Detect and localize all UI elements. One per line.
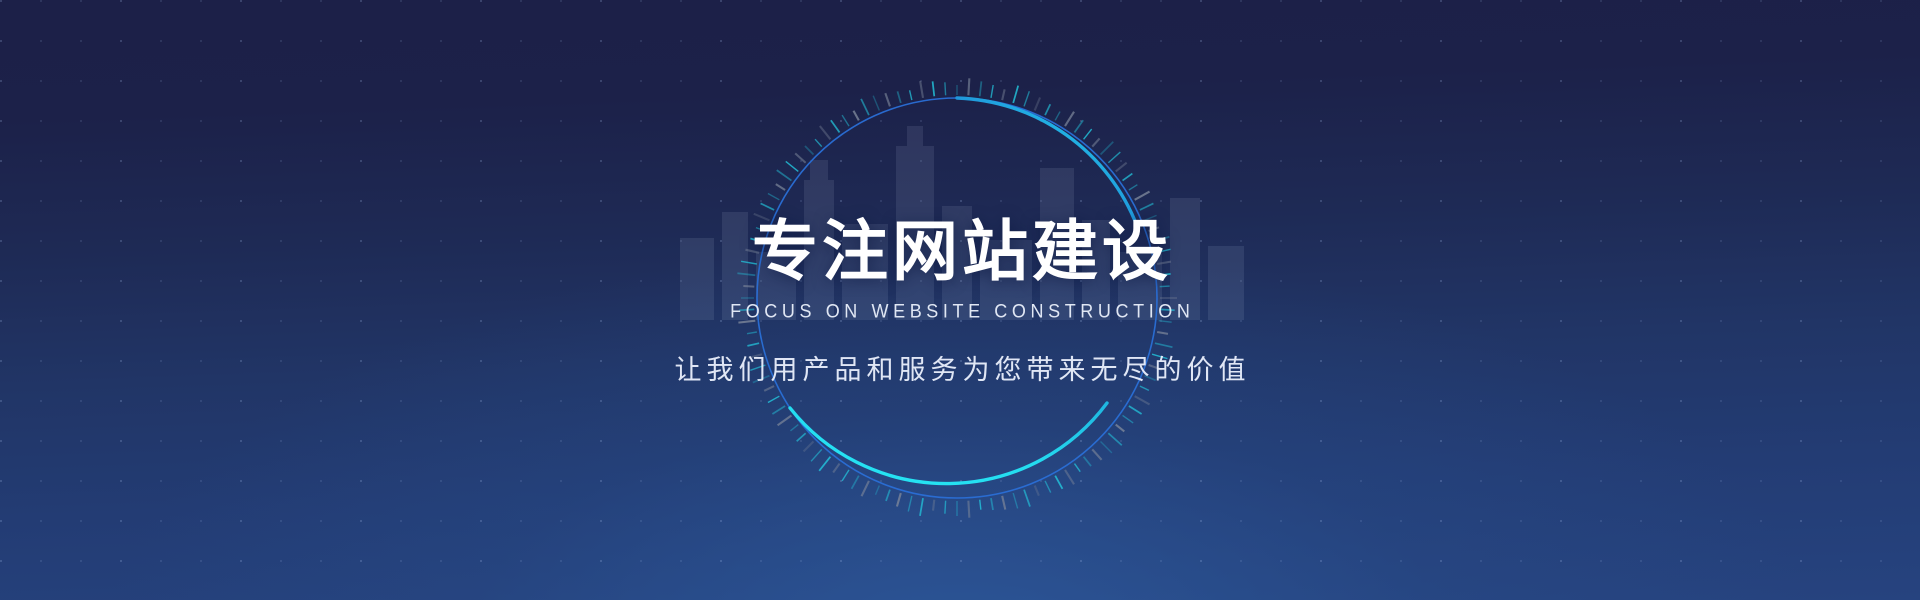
page-title: 专注网站建设 [748, 217, 1172, 286]
tagline-chinese: 让我们用产品和服务为您带来无尽的价值 [670, 348, 1251, 387]
hero-content: 专注网站建设 FOCUS ON WEBSITE CONSTRUCTION 让我们… [0, 0, 1920, 600]
subtitle-english: FOCUS ON WEBSITE CONSTRUCTION [726, 300, 1195, 322]
hero-banner: 专注网站建设 FOCUS ON WEBSITE CONSTRUCTION 让我们… [0, 0, 1920, 600]
